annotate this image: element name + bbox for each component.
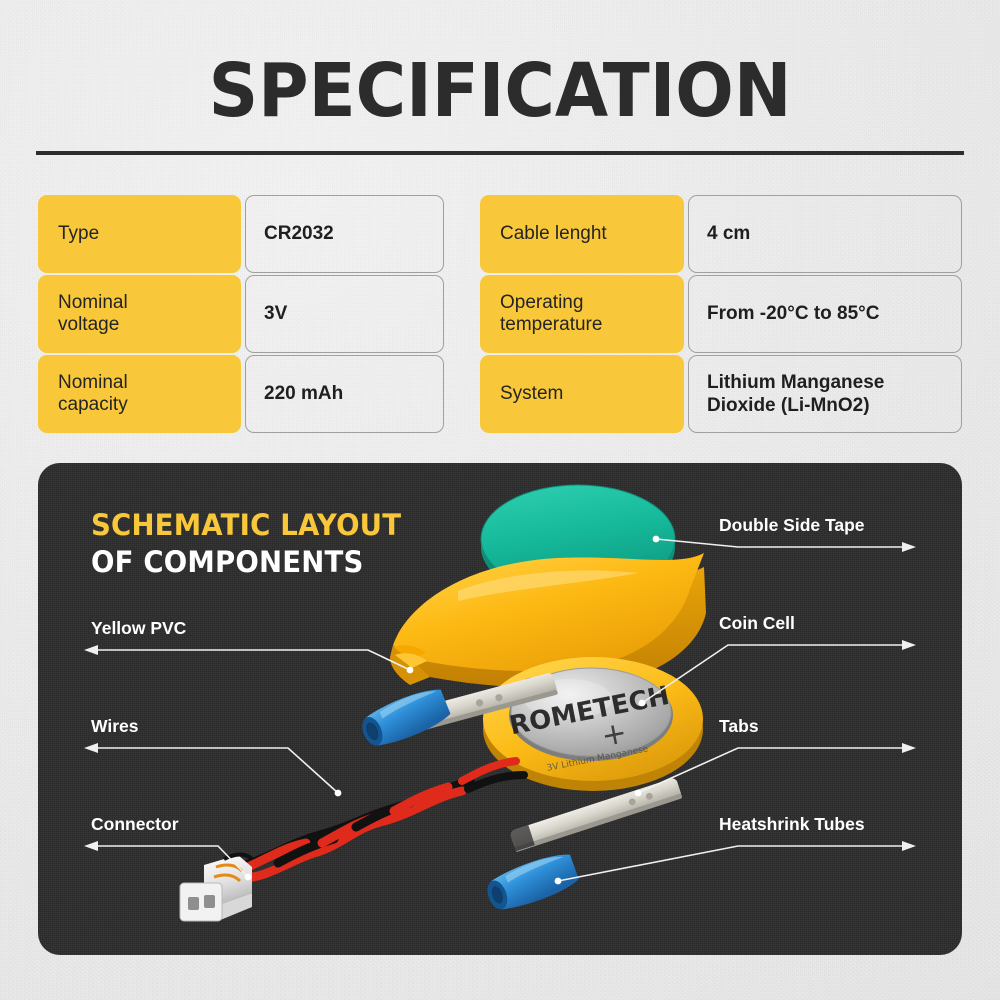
spec-value: From -20°C to 85°C bbox=[688, 275, 962, 353]
spec-label: Nominal voltage bbox=[38, 275, 241, 353]
callout-coin-cell: Coin Cell bbox=[719, 613, 795, 634]
schematic-heading: SCHEMATIC LAYOUT OF COMPONENTS bbox=[91, 507, 401, 581]
schematic-heading-line1: SCHEMATIC LAYOUT bbox=[91, 507, 401, 544]
spec-column-right: Cable lenght 4 cm Operating temperature … bbox=[480, 195, 962, 435]
callout-heatshrink-tubes: Heatshrink Tubes bbox=[719, 814, 865, 835]
spec-label: System bbox=[480, 355, 684, 433]
spec-label: Nominal capacity bbox=[38, 355, 241, 433]
spec-row: System Lithium Manganese Dioxide (Li-MnO… bbox=[480, 355, 962, 433]
spec-label: Operating temperature bbox=[480, 275, 684, 353]
spec-label: Cable lenght bbox=[480, 195, 684, 273]
spec-value: CR2032 bbox=[245, 195, 444, 273]
callout-yellow-pvc: Yellow PVC bbox=[91, 618, 186, 639]
spec-row: Cable lenght 4 cm bbox=[480, 195, 962, 273]
spec-label: Type bbox=[38, 195, 241, 273]
page-title: SPECIFICATION bbox=[35, 48, 965, 134]
spec-value: 4 cm bbox=[688, 195, 962, 273]
infographic-page: SPECIFICATION Type CR2032 Nominal voltag… bbox=[0, 0, 1000, 1000]
schematic-panel: SCHEMATIC LAYOUT OF COMPONENTS bbox=[38, 463, 962, 955]
callout-double-side-tape: Double Side Tape bbox=[719, 515, 865, 536]
title-divider bbox=[36, 151, 964, 155]
schematic-heading-line2: OF COMPONENTS bbox=[91, 544, 401, 581]
callout-tabs: Tabs bbox=[719, 716, 759, 737]
spec-row: Type CR2032 bbox=[38, 195, 444, 273]
spec-column-left: Type CR2032 Nominal voltage 3V Nominal c… bbox=[38, 195, 444, 435]
spec-value: 220 mAh bbox=[245, 355, 444, 433]
spec-row: Nominal voltage 3V bbox=[38, 275, 444, 353]
callout-connector: Connector bbox=[91, 814, 179, 835]
spec-row: Nominal capacity 220 mAh bbox=[38, 355, 444, 433]
spec-row: Operating temperature From -20°C to 85°C bbox=[480, 275, 962, 353]
callout-wires: Wires bbox=[91, 716, 139, 737]
spec-value: 3V bbox=[245, 275, 444, 353]
spec-value: Lithium Manganese Dioxide (Li-MnO2) bbox=[688, 355, 962, 433]
